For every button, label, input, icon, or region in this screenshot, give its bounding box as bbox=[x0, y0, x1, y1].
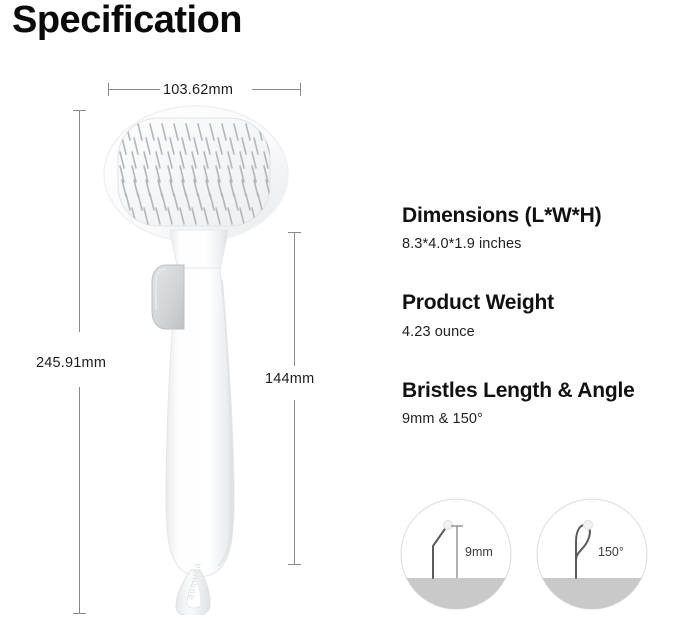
height-dim-cap-bottom bbox=[73, 613, 86, 614]
spec-heading-product-weight: Product Weight bbox=[402, 290, 670, 316]
brush-head bbox=[104, 106, 288, 242]
ground-fill bbox=[400, 578, 512, 610]
diagram-label-length: 9mm bbox=[465, 545, 493, 559]
spec-value-dimensions: 8.3*4.0*1.9 inches bbox=[402, 236, 670, 252]
product-image: aumuca bbox=[96, 100, 311, 615]
diagram-bristle-length: 9mm bbox=[400, 498, 512, 610]
diagram-bristle-angle: 150° bbox=[536, 498, 648, 610]
specification-page: Specification 103.62mm 245.91mm 144mm bbox=[0, 0, 679, 620]
page-title: Specification bbox=[12, 0, 242, 44]
spec-item-product-weight: Product Weight 4.23 ounce bbox=[402, 290, 670, 339]
width-dim-line-left bbox=[108, 89, 160, 90]
spec-heading-dimensions: Dimensions (L*W*H) bbox=[402, 203, 670, 229]
height-dim-line-upper bbox=[79, 110, 80, 332]
spec-item-dimensions: Dimensions (L*W*H) 8.3*4.0*1.9 inches bbox=[402, 203, 670, 252]
ground-fill bbox=[536, 578, 648, 610]
width-dim-label: 103.62mm bbox=[163, 82, 233, 98]
spec-list: Dimensions (L*W*H) 8.3*4.0*1.9 inches Pr… bbox=[402, 203, 670, 452]
width-dim-cap-right bbox=[300, 83, 301, 96]
diagram-label-angle: 150° bbox=[598, 545, 624, 559]
spec-item-bristles: Bristles Length & Angle 9mm & 150° bbox=[402, 378, 670, 427]
self-cleaning-button bbox=[152, 265, 184, 329]
spec-value-product-weight: 4.23 ounce bbox=[402, 324, 670, 340]
width-dim-line-right bbox=[252, 89, 300, 90]
spec-value-bristles: 9mm & 150° bbox=[402, 411, 670, 427]
spec-heading-bristles: Bristles Length & Angle bbox=[402, 378, 670, 404]
height-dim-line-lower bbox=[79, 387, 80, 613]
